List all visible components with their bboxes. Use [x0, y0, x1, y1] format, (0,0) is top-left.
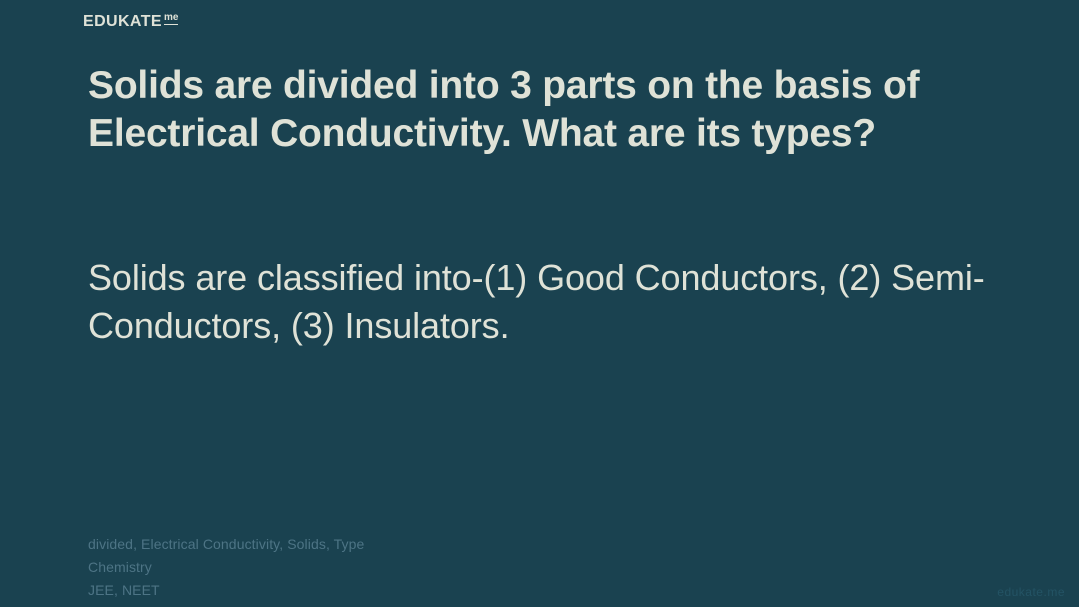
footer-subject: Chemistry [88, 558, 364, 577]
logo-superscript: me [164, 13, 178, 25]
slide-question-heading: Solids are divided into 3 parts on the b… [88, 62, 978, 158]
slide-answer-body: Solids are classified into-(1) Good Cond… [88, 254, 988, 350]
watermark-label: edukate.me [997, 585, 1065, 599]
logo-wordmark: EDUKATE [83, 14, 162, 30]
edukate-logo[interactable]: EDUKATE me [83, 14, 178, 30]
footer-exams: JEE, NEET [88, 581, 364, 600]
footer-metadata: divided, Electrical Conductivity, Solids… [88, 535, 364, 600]
slide-canvas: EDUKATE me Solids are divided into 3 par… [0, 0, 1079, 607]
footer-tags: divided, Electrical Conductivity, Solids… [88, 535, 364, 554]
